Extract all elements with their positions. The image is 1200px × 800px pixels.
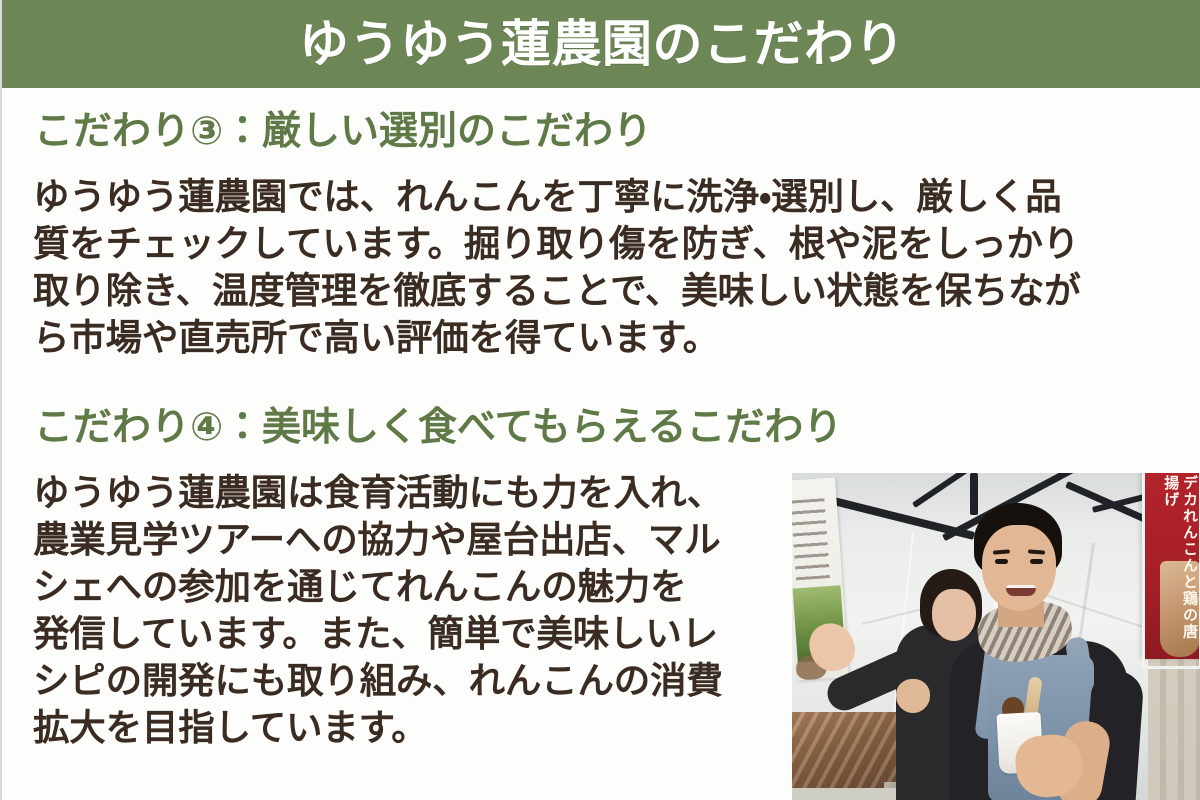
body-line: 質をチェックしています。掘り取り傷を防ぎ、根や泥をしっかり [33, 220, 1183, 267]
woman-hand-raised [896, 679, 930, 713]
produce-display [792, 712, 896, 800]
body-line: 取り除き、温度管理を徹底することで、美味しい状態を保ちなが [33, 267, 1183, 314]
man-eye-left [995, 559, 1008, 564]
man-face [982, 525, 1056, 611]
body-line: シェへの参加を通じてれんこんの魅力を [33, 563, 781, 610]
body-line: ゆうゆう蓮農園では、れんこんを丁寧に洗浄・選別し、厳しく品 [33, 173, 1183, 220]
canopy-frame-bar [970, 473, 978, 515]
slide-root: ゆうゆう蓮農園のこだわり こだわり③：厳しい選別のこだわり ゆうゆう蓮農園では、… [0, 0, 1200, 800]
body-line: 発信しています。また、簡単で美味しいレ [33, 610, 781, 657]
section-heading-3: こだわり③：厳しい選別のこだわり [34, 110, 652, 155]
woman-face [932, 589, 976, 641]
man-eye-right [1030, 559, 1043, 564]
page-title: ゆうゆう蓮農園のこだわり [299, 19, 905, 69]
body-line: 農業見学ツアーへの協力や屋台出店、マル [33, 516, 781, 563]
body-line: シピの開発にも取り組み、れんこんの消費 [33, 657, 781, 704]
body-line: ゆうゆう蓮農園は食育活動にも力を入れ、 [33, 469, 781, 516]
wooden-panel [1148, 652, 1200, 800]
section-heading-4: こだわり④：美味しく食べてもらえるこだわり [34, 406, 842, 451]
man-mouth [1006, 585, 1036, 596]
menu-banner-frame [1142, 473, 1200, 669]
sign-text-lines [792, 498, 830, 580]
body-line: 拡大を目指しています。 [33, 704, 781, 751]
section-body-3: ゆうゆう蓮農園では、れんこんを丁寧に洗浄・選別し、厳しく品 質をチェックしていま… [33, 173, 1183, 361]
body-line: ら市場や直売所で高い評価を得ています。 [33, 314, 1183, 361]
title-band: ゆうゆう蓮農園のこだわり [2, 0, 1200, 88]
photo-scene: デカれんこんと鶏の唐揚げ [792, 473, 1200, 800]
section-body-4: ゆうゆう蓮農園は食育活動にも力を入れ、 農業見学ツアーへの協力や屋台出店、マル … [33, 469, 781, 751]
market-stall-photo: デカれんこんと鶏の唐揚げ [792, 473, 1200, 800]
